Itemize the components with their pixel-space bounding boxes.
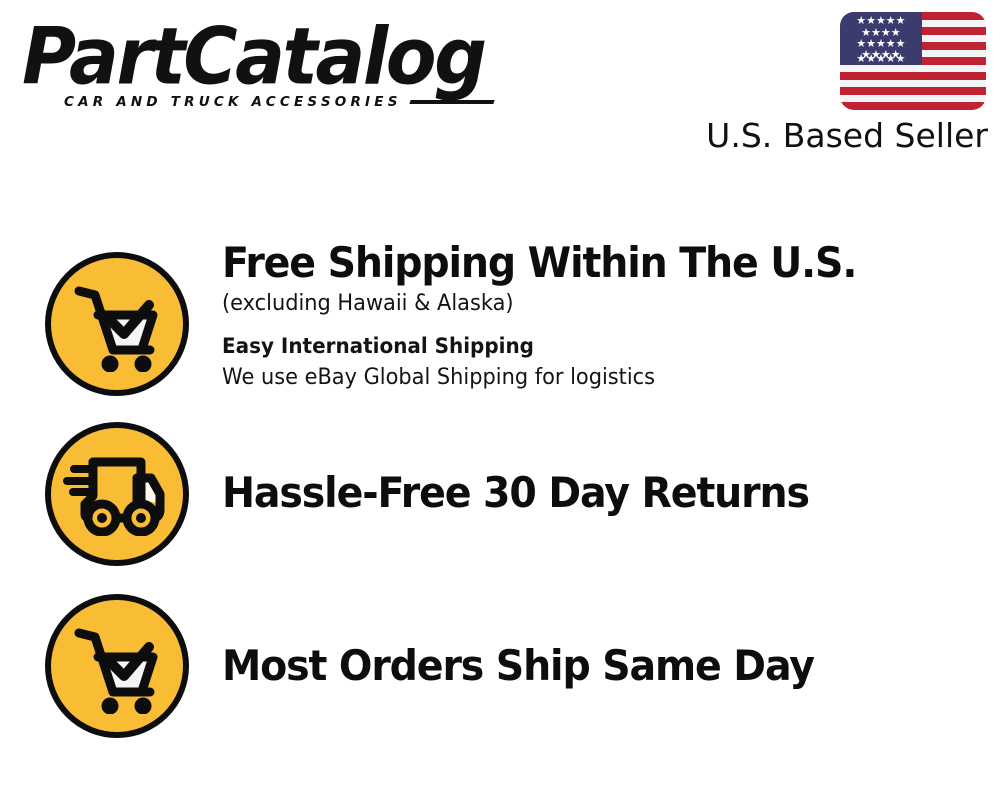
feature-row-free-shipping: Free Shipping Within The U.S. (excluding… <box>0 238 1000 413</box>
feature-row-returns: Hassle-Free 30 Day Returns <box>0 413 1000 585</box>
feature-text-same-day: Most Orders Ship Same Day <box>222 585 852 691</box>
feature-subnote: (excluding Hawaii & Alaska) <box>222 288 863 320</box>
us-flag-icon: ★★★★★ ★★★★ ★★★★★ ★★★★ ★★★★★ <box>840 12 986 110</box>
feature-headline: Hassle-Free 30 Day Returns <box>222 468 809 518</box>
feature-list: Free Shipping Within The U.S. (excluding… <box>0 238 1000 760</box>
feature-subtext: We use eBay Global Shipping for logistic… <box>222 362 863 394</box>
shopping-cart-check-icon <box>45 594 189 738</box>
feature-headline: Free Shipping Within The U.S. <box>222 238 856 288</box>
feature-text-free-shipping: Free Shipping Within The U.S. (excluding… <box>222 238 897 394</box>
feature-text-returns: Hassle-Free 30 Day Returns <box>222 413 846 518</box>
tagline-rule-decoration <box>409 100 495 104</box>
shopping-cart-check-icon <box>45 252 189 396</box>
seller-label: U.S. Based Seller <box>698 116 988 156</box>
us-based-seller-block: ★★★★★ ★★★★ ★★★★★ ★★★★ ★★★★★ U.S. Based S… <box>698 12 988 156</box>
feature-subheading: Easy International Shipping <box>222 330 863 362</box>
brand-wordmark: PartCatalog <box>22 18 492 96</box>
feature-headline: Most Orders Ship Same Day <box>222 641 814 691</box>
feature-row-same-day: Most Orders Ship Same Day <box>0 585 1000 760</box>
brand-logo: PartCatalog CAR AND TRUCK ACCESSORIES <box>22 18 492 110</box>
delivery-truck-icon <box>45 422 189 566</box>
